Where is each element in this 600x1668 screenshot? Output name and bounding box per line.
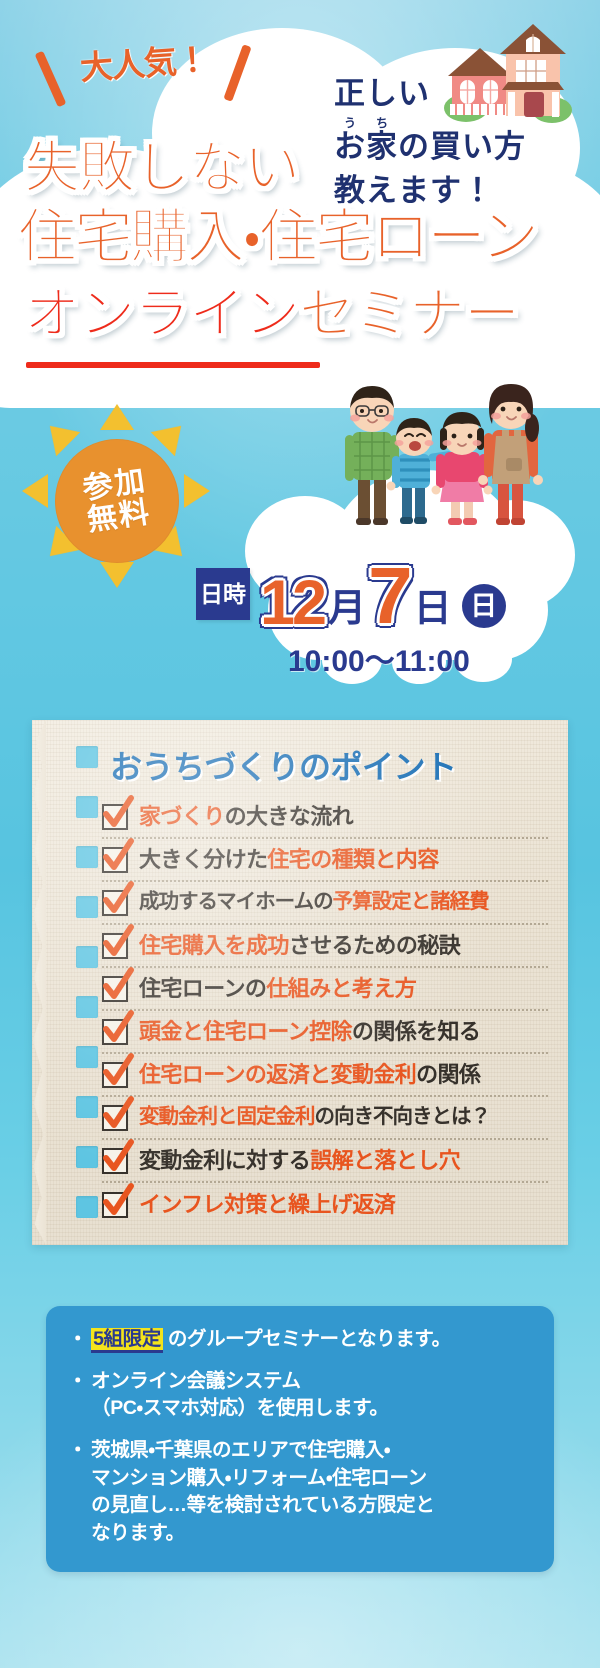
checklist-item-label: 家づくりの大きな流れ (139, 806, 353, 828)
checklist-item: 家づくりの大きな流れ (102, 796, 548, 839)
checkbox-checked (102, 890, 128, 916)
tagline-line-2: お家うちの買い方 (334, 116, 526, 169)
checkmark-icon (100, 1139, 136, 1175)
free-badge-disc: 参加無料 (55, 439, 179, 563)
checklist-item-label: 大きく分けた住宅の種類と内容 (139, 849, 439, 871)
slash-right-decoration (223, 44, 251, 102)
title-line-3-red: オンライン (24, 282, 299, 345)
note-list-item: ・茨城県・千葉県のエリアで住宅購入・マンション購入・リフォーム・住宅ローンの見直… (60, 1437, 540, 1548)
checklist-item: 頭金と住宅ローン控除の関係を知る (102, 1011, 548, 1054)
checkbox-checked (102, 1192, 128, 1218)
bullet-icon: ・ (60, 1326, 91, 1354)
checklist-item-label: 住宅ローンの仕組みと考え方 (139, 978, 416, 1000)
popular-badge: 大人気！ (38, 44, 248, 108)
flyer-poster: 大人気！ 正しい お家うちの買い方 教えます！ 失敗しない 住宅購入・住宅ローン… (0, 0, 600, 1668)
date-day-unit: 日 (410, 590, 454, 634)
checkbox-checked (102, 933, 128, 959)
checklist-heading: おうちづくりのポイント (110, 742, 457, 788)
date-month-unit: 月 (324, 590, 368, 634)
date-time-range: 10:00〜11:00 (288, 636, 470, 680)
paper-hole (76, 796, 98, 818)
checkmark-icon (100, 838, 136, 874)
paper-hole (76, 746, 98, 768)
title-line-2: 住宅購入・住宅ローン (18, 208, 536, 267)
checkbox-checked (102, 1148, 128, 1174)
checklist-item: 住宅ローンの仕組みと考え方 (102, 968, 548, 1011)
checkbox-checked (102, 976, 128, 1002)
checkbox-checked (102, 847, 128, 873)
bullet-icon: ・ (60, 1368, 91, 1423)
sun-icon: 参加無料 (22, 406, 212, 596)
paper-hole (76, 1146, 98, 1168)
checklist-item-label: インフレ対策と繰上げ返済 (139, 1194, 395, 1216)
checklist-item-label: 変動金利に対する誤解と落とし穴 (139, 1150, 460, 1172)
date-row: 12 月 7 日 日 (260, 556, 506, 634)
checklist-item-label: 変動金利と固定金利の向き不向きとは？ (139, 1107, 490, 1128)
checkbox-checked (102, 1062, 128, 1088)
note-list-item: ・5組限定 のグループセミナーとなります。 (60, 1326, 540, 1354)
checkmark-icon (100, 1053, 136, 1089)
title-line-3-orange: セミナー (299, 282, 519, 345)
checklist-item: 住宅ローンの返済と変動金利の関係 (102, 1054, 548, 1097)
note-text: 茨城県・千葉県のエリアで住宅購入・マンション購入・リフォーム・住宅ローンの見直し… (91, 1437, 540, 1548)
note-text: 5組限定 のグループセミナーとなります。 (91, 1326, 540, 1354)
checkmark-icon (100, 1183, 136, 1219)
date-month-number: 12 (260, 574, 324, 634)
paper-hole (76, 1196, 98, 1218)
checkmark-icon (100, 1096, 136, 1132)
paper-hole (76, 1096, 98, 1118)
checklist-item: インフレ対策と繰上げ返済 (102, 1183, 548, 1226)
paper-hole (76, 996, 98, 1018)
checklist: 家づくりの大きな流れ大きく分けた住宅の種類と内容成功するマイホームの予算設定と諸… (102, 796, 548, 1226)
checklist-item: 大きく分けた住宅の種類と内容 (102, 839, 548, 882)
checklist-item: 住宅購入を成功させるための秘訣 (102, 925, 548, 968)
title-line-3: オンラインセミナー (24, 286, 519, 342)
popular-badge-label: 大人気！ (63, 40, 225, 87)
title-underline (26, 362, 320, 368)
free-badge-label: 参加無料 (51, 461, 183, 541)
checklist-item: 変動金利と固定金利の向き不向きとは？ (102, 1097, 548, 1140)
date-label-badge: 日時 (196, 568, 250, 620)
torn-edge-decoration (24, 720, 46, 1245)
checklist-item-label: 住宅購入を成功させるための秘訣 (139, 935, 460, 957)
date-dayofweek-badge: 日 (462, 584, 506, 628)
checklist-item-label: 頭金と住宅ローン控除の関係を知る (139, 1021, 480, 1043)
checkbox-checked (102, 804, 128, 830)
slash-left-decoration (35, 51, 67, 108)
checkmark-icon (100, 881, 136, 917)
tagline-kanji: お家 (334, 129, 398, 164)
note-highlight: 5組限定 (91, 1328, 163, 1353)
tagline-line-2-rest: の買い方 (398, 129, 526, 164)
checkmark-icon (100, 967, 136, 1003)
checklist-item-label: 住宅ローンの返済と変動金利の関係 (139, 1064, 480, 1086)
tagline-line-1: 正しい (334, 72, 526, 116)
checkmark-icon (100, 1010, 136, 1046)
bullet-icon: ・ (60, 1437, 91, 1548)
date-block: 日時 12 月 7 日 日 10:00〜11:00 (196, 556, 576, 666)
paper-hole (76, 896, 98, 918)
note-text: オンライン会議システム（PC・スマホ対応）を使用します。 (91, 1368, 540, 1423)
checklist-paper: おうちづくりのポイント 家づくりの大きな流れ大きく分けた住宅の種類と内容成功する… (32, 720, 568, 1245)
title-line-1: 失敗しない (24, 140, 299, 196)
checklist-item-label: 成功するマイホームの予算設定と諸経費 (139, 892, 489, 913)
tagline-ruby: うち (334, 116, 398, 130)
checkbox-checked (102, 1105, 128, 1131)
paper-hole (76, 1046, 98, 1068)
note-list-item: ・オンライン会議システム（PC・スマホ対応）を使用します。 (60, 1368, 540, 1423)
checkmark-icon (100, 795, 136, 831)
checkmark-icon (100, 924, 136, 960)
paper-hole (76, 846, 98, 868)
date-day-number: 7 (368, 558, 410, 634)
checklist-item: 成功するマイホームの予算設定と諸経費 (102, 882, 548, 925)
notes-panel: ・5組限定 のグループセミナーとなります。・オンライン会議システム（PC・スマホ… (46, 1306, 554, 1572)
checkbox-checked (102, 1019, 128, 1045)
paper-hole (76, 946, 98, 968)
checklist-item: 変動金利に対する誤解と落とし穴 (102, 1140, 548, 1183)
family-illustration (330, 380, 560, 540)
tagline: 正しい お家うちの買い方 教えます！ (334, 72, 526, 213)
